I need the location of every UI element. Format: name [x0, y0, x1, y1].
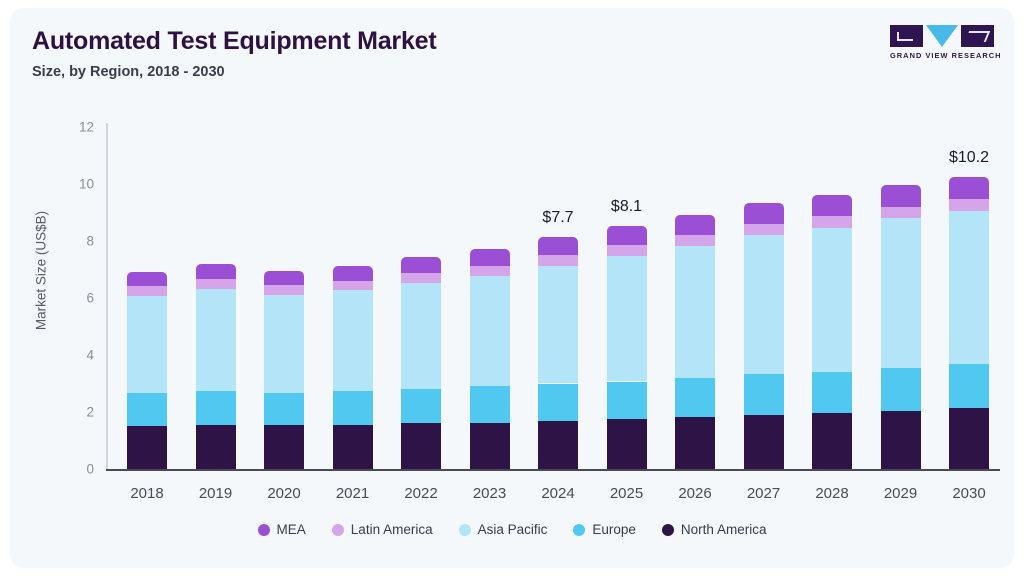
bar-segment-asia-pacific[interactable] — [812, 228, 852, 372]
bar-segment-europe[interactable] — [812, 372, 852, 413]
y-axis-line — [106, 123, 108, 470]
bar-value-label: $8.1 — [582, 198, 672, 216]
x-tick-label: 2023 — [455, 485, 525, 502]
bar-segment-north-america[interactable] — [196, 425, 236, 469]
bar-segment-asia-pacific[interactable] — [949, 211, 989, 364]
legend-label: Latin America — [351, 522, 433, 537]
bar-segment-north-america[interactable] — [607, 419, 647, 469]
bar-segment-latin-america[interactable] — [881, 207, 921, 219]
x-tick-label: 2021 — [318, 485, 388, 502]
legend-item-mea[interactable]: MEA — [258, 522, 306, 537]
bar-segment-north-america[interactable] — [744, 415, 784, 469]
bar-segment-asia-pacific[interactable] — [675, 246, 715, 378]
bar-segment-europe[interactable] — [264, 393, 304, 426]
bar-segment-latin-america[interactable] — [470, 266, 510, 276]
bar-segment-mea[interactable] — [949, 177, 989, 199]
bar-segment-europe[interactable] — [127, 393, 167, 426]
legend-item-north-america[interactable]: North America — [662, 522, 767, 537]
bar-group[interactable] — [744, 127, 784, 469]
x-tick-label: 2028 — [797, 485, 867, 502]
y-tick-label: 4 — [64, 348, 94, 363]
bar-segment-asia-pacific[interactable] — [470, 276, 510, 386]
bar-segment-asia-pacific[interactable] — [607, 256, 647, 381]
bar-segment-mea[interactable] — [881, 185, 921, 207]
bar-group[interactable] — [470, 127, 510, 469]
bar-segment-asia-pacific[interactable] — [264, 295, 304, 393]
bar-segment-north-america[interactable] — [333, 425, 373, 469]
bar-segment-north-america[interactable] — [127, 426, 167, 469]
bar-segment-latin-america[interactable] — [607, 245, 647, 256]
legend-label: North America — [681, 522, 767, 537]
legend-swatch-icon — [459, 524, 471, 536]
bar-segment-latin-america[interactable] — [538, 255, 578, 266]
bar-segment-mea[interactable] — [470, 249, 510, 266]
bar-group[interactable] — [196, 127, 236, 469]
bar-group[interactable] — [333, 127, 373, 469]
legend-label: MEA — [277, 522, 306, 537]
bar-segment-mea[interactable] — [333, 266, 373, 281]
bar-segment-europe[interactable] — [538, 384, 578, 422]
bar-group[interactable] — [401, 127, 441, 469]
x-tick-label: 2027 — [729, 485, 799, 502]
x-tick-label: 2020 — [249, 485, 319, 502]
x-tick-label: 2026 — [660, 485, 730, 502]
bar-segment-mea[interactable] — [196, 264, 236, 279]
y-tick-label: 8 — [64, 234, 94, 249]
bar-segment-latin-america[interactable] — [127, 286, 167, 295]
legend-item-latin-america[interactable]: Latin America — [332, 522, 433, 537]
bar-segment-mea[interactable] — [538, 237, 578, 256]
bar-group[interactable] — [264, 127, 304, 469]
bar-segment-mea[interactable] — [675, 215, 715, 235]
bar-segment-europe[interactable] — [607, 382, 647, 420]
x-tick-label: 2018 — [112, 485, 182, 502]
bar-segment-asia-pacific[interactable] — [401, 283, 441, 388]
screenshot-root: Automated Test Equipment Market Size, by… — [0, 0, 1024, 576]
y-tick-label: 10 — [64, 177, 94, 192]
legend-label: Europe — [592, 522, 636, 537]
bar-segment-north-america[interactable] — [949, 408, 989, 469]
bar-segment-mea[interactable] — [401, 257, 441, 274]
bar-segment-north-america[interactable] — [401, 423, 441, 469]
bar-segment-mea[interactable] — [264, 271, 304, 286]
bar-segment-europe[interactable] — [744, 374, 784, 414]
stacked-bar-chart: Market Size (US$B) 024681012 20182019202… — [10, 8, 1014, 568]
bar-segment-asia-pacific[interactable] — [881, 218, 921, 368]
bar-segment-north-america[interactable] — [264, 425, 304, 469]
x-axis-line — [106, 469, 1000, 471]
bar-group[interactable] — [812, 127, 852, 469]
y-axis-title: Market Size (US$B) — [34, 176, 49, 366]
bar-group[interactable] — [127, 127, 167, 469]
bar-segment-europe[interactable] — [949, 364, 989, 408]
bar-segment-asia-pacific[interactable] — [744, 235, 784, 374]
bar-segment-europe[interactable] — [333, 391, 373, 425]
legend-label: Asia Pacific — [478, 522, 548, 537]
bar-group[interactable] — [607, 127, 647, 469]
x-tick-label: 2029 — [866, 485, 936, 502]
bar-segment-mea[interactable] — [812, 195, 852, 216]
bar-group[interactable] — [949, 127, 989, 469]
bar-segment-latin-america[interactable] — [401, 273, 441, 283]
bar-segment-latin-america[interactable] — [949, 199, 989, 211]
bar-segment-mea[interactable] — [127, 272, 167, 286]
bar-segment-europe[interactable] — [196, 391, 236, 425]
bar-segment-latin-america[interactable] — [264, 285, 304, 294]
bar-segment-latin-america[interactable] — [333, 281, 373, 290]
bar-segment-latin-america[interactable] — [744, 224, 784, 235]
y-tick-label: 2 — [64, 405, 94, 420]
bar-segment-north-america[interactable] — [881, 411, 921, 469]
bar-segment-asia-pacific[interactable] — [127, 296, 167, 394]
bar-segment-europe[interactable] — [470, 386, 510, 422]
bar-group[interactable] — [538, 127, 578, 469]
y-tick-label: 6 — [64, 291, 94, 306]
bar-segment-latin-america[interactable] — [812, 216, 852, 227]
bar-segment-latin-america[interactable] — [675, 235, 715, 246]
bar-segment-mea[interactable] — [607, 226, 647, 245]
chart-card: Automated Test Equipment Market Size, by… — [10, 8, 1014, 568]
bar-segment-north-america[interactable] — [675, 417, 715, 469]
bar-segment-latin-america[interactable] — [196, 279, 236, 288]
bar-value-label: $10.2 — [924, 149, 1014, 167]
x-tick-label: 2024 — [523, 485, 593, 502]
bar-segment-asia-pacific[interactable] — [538, 266, 578, 384]
chart-legend: MEALatin AmericaAsia PacificEuropeNorth … — [10, 522, 1014, 537]
legend-swatch-icon — [258, 524, 270, 536]
x-tick-label: 2025 — [592, 485, 662, 502]
x-tick-label: 2030 — [934, 485, 1004, 502]
bar-segment-europe[interactable] — [881, 368, 921, 410]
bar-segment-asia-pacific[interactable] — [196, 289, 236, 391]
y-tick-label: 0 — [64, 462, 94, 477]
bar-segment-north-america[interactable] — [538, 421, 578, 469]
legend-swatch-icon — [332, 524, 344, 536]
bar-segment-asia-pacific[interactable] — [333, 290, 373, 391]
legend-swatch-icon — [662, 524, 674, 536]
bar-segment-europe[interactable] — [401, 389, 441, 424]
bar-segment-mea[interactable] — [744, 203, 784, 224]
bar-group[interactable] — [881, 127, 921, 469]
bar-segment-north-america[interactable] — [470, 423, 510, 469]
x-tick-label: 2019 — [181, 485, 251, 502]
legend-item-asia-pacific[interactable]: Asia Pacific — [459, 522, 548, 537]
bar-segment-north-america[interactable] — [812, 413, 852, 469]
y-tick-label: 12 — [64, 120, 94, 135]
bar-segment-europe[interactable] — [675, 378, 715, 417]
x-tick-label: 2022 — [386, 485, 456, 502]
bar-group[interactable] — [675, 127, 715, 469]
legend-item-europe[interactable]: Europe — [573, 522, 636, 537]
legend-swatch-icon — [573, 524, 585, 536]
